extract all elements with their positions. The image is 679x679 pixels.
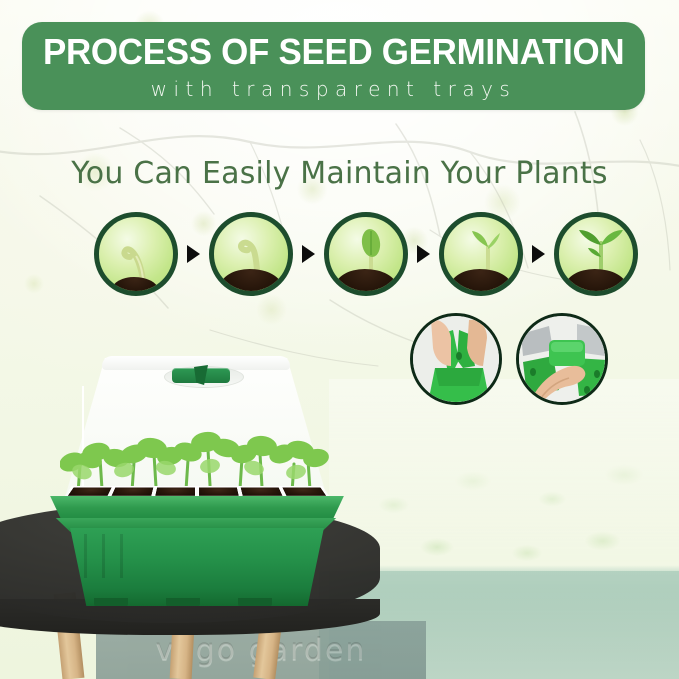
section-headline: You Can Easily Maintain Your Plants: [0, 156, 679, 191]
germination-stage-5: [554, 212, 638, 296]
tray-cell[interactable]: [198, 487, 240, 496]
header-banner: PROCESS OF SEED GERMINATION with transpa…: [22, 22, 645, 110]
banner-title: PROCESS OF SEED GERMINATION: [43, 34, 624, 70]
tray-rib: [102, 534, 105, 578]
feature-squeeze-cell: [410, 313, 502, 405]
germination-stage-2: [209, 212, 293, 296]
banner-subtitle: with transparent trays: [151, 77, 517, 101]
product-image-seed-starter-tray: [44, 358, 356, 614]
tray-cell[interactable]: [66, 487, 112, 496]
tray-base-body: [62, 528, 332, 606]
stage-arrow-icon: [302, 245, 315, 263]
stage-arrow-icon: [417, 245, 430, 263]
hand-pop-out-seedling-icon: [519, 316, 608, 405]
stage-arrow-icon: [532, 245, 545, 263]
germination-stage-3: [324, 212, 408, 296]
product-infographic-poster: vego garden PROCESS OF SEED GERMINATION …: [0, 0, 679, 679]
tray-foot: [238, 598, 272, 610]
stage-arrow-icon: [187, 245, 200, 263]
tray-cell[interactable]: [154, 487, 196, 496]
tray-cell[interactable]: [281, 487, 327, 496]
feature-circle-row: [410, 313, 610, 405]
tray-foot: [166, 598, 200, 610]
germination-stage-row: [94, 211, 604, 297]
germination-stage-4: [439, 212, 523, 296]
tray-cell[interactable]: [240, 487, 284, 496]
tray-foot: [94, 598, 128, 610]
tray-rib: [120, 534, 123, 578]
hand-squeeze-tray-cell-icon: [413, 316, 502, 405]
tray-rib: [84, 534, 87, 578]
tray-cell[interactable]: [110, 487, 154, 496]
germination-stage-1: [94, 212, 178, 296]
feature-pop-out-cell: [516, 313, 608, 405]
